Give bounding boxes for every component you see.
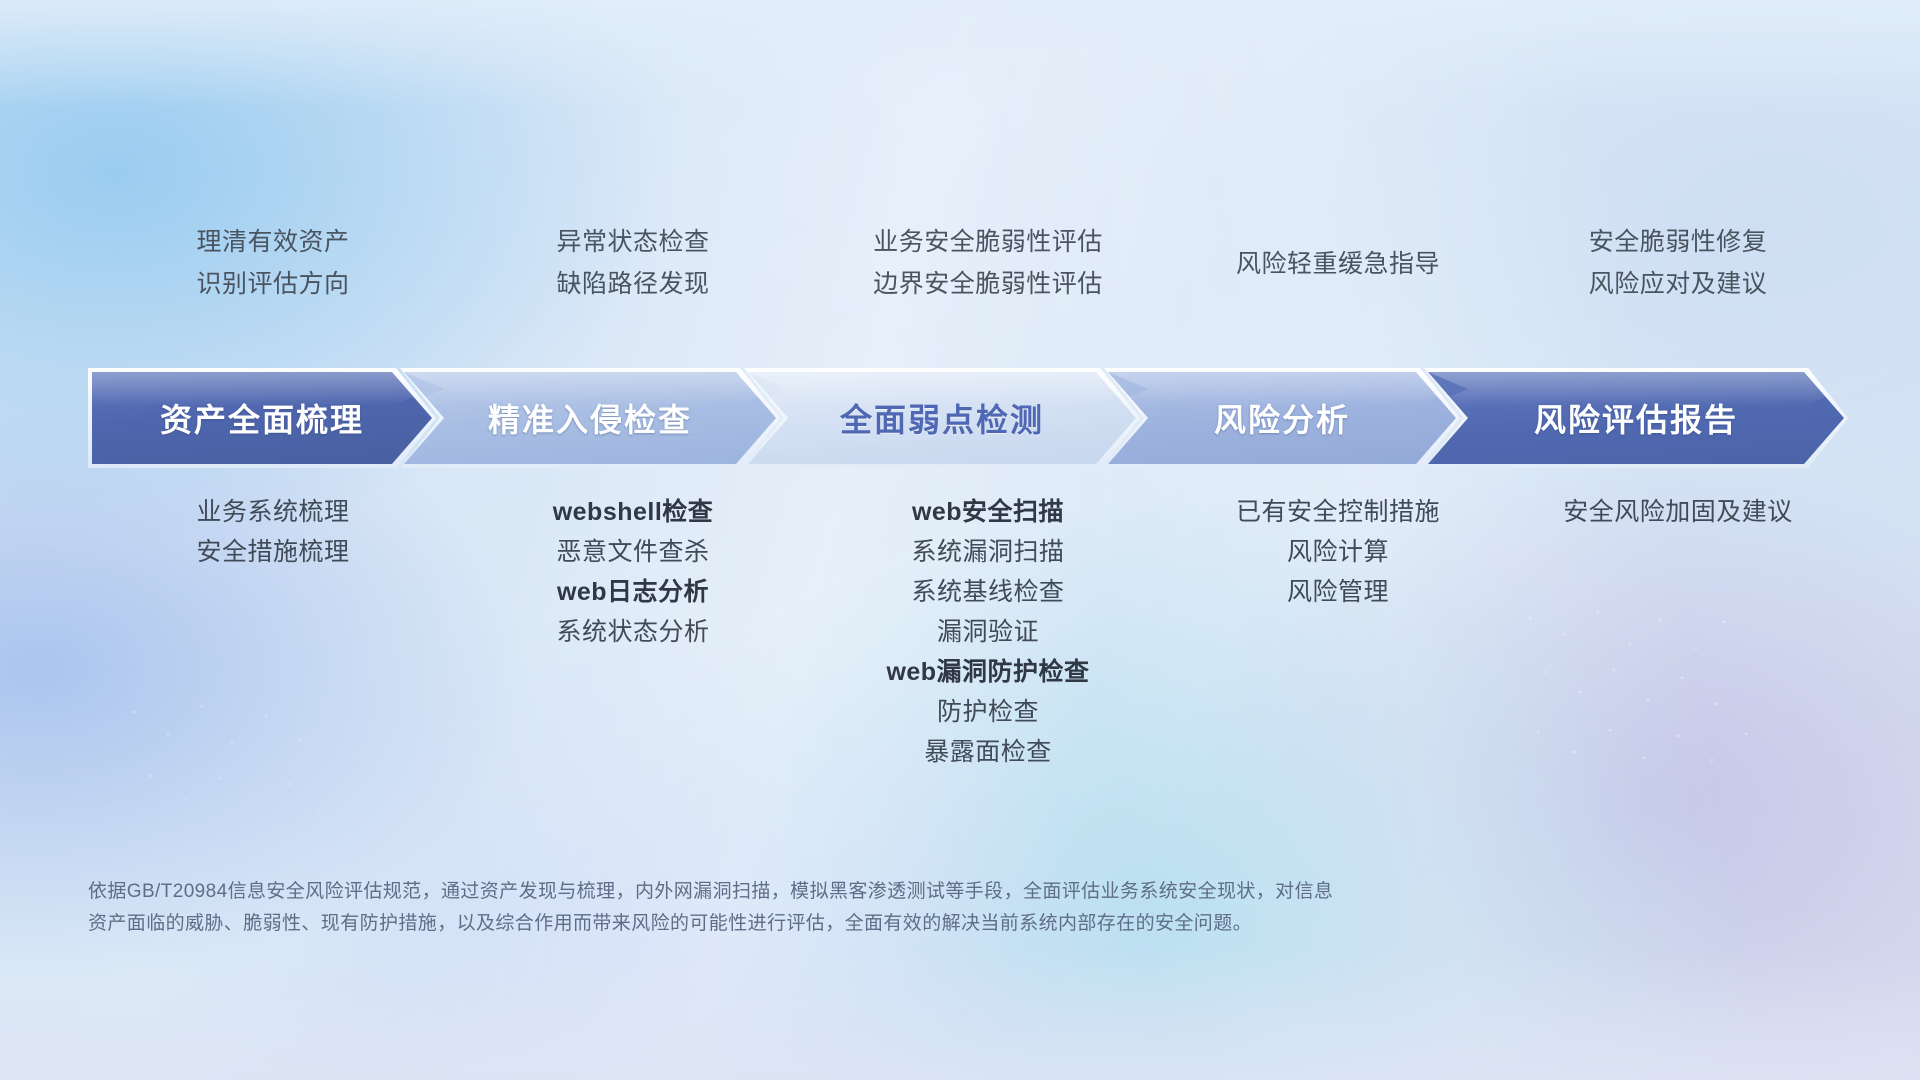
chevron-weakness-detection[interactable]: 全面弱点检测 (744, 368, 1140, 468)
top-item: 理清有效资产 (196, 228, 349, 256)
bottom-item: 业务系统梳理 (196, 498, 349, 526)
chevron-label: 资产全面梳理 (160, 395, 364, 441)
top-item: 风险应对及建议 (1589, 270, 1768, 298)
top-item: 业务安全脆弱性评估 (873, 228, 1103, 256)
bottom-item: 风险管理 (1287, 578, 1389, 606)
top-item: 异常状态检查 (556, 228, 709, 256)
stage-bottom-labels-row: 业务系统梳理 安全措施梳理 webshell检查 恶意文件查杀 web日志分析 … (88, 498, 1848, 766)
bottom-item: 恶意文件查杀 (556, 538, 709, 566)
top-item: 风险轻重缓急指导 (1236, 250, 1440, 278)
process-diagram: 理清有效资产 识别评估方向 异常状态检查 缺陷路径发现 业务安全脆弱性评估 边界… (0, 0, 1920, 1080)
top-item: 缺陷路径发现 (556, 270, 709, 298)
stage-top-labels-asset-inventory: 理清有效资产 识别评估方向 (88, 228, 458, 298)
stage-bottom-labels-weakness-detection: web安全扫描 系统漏洞扫描 系统基线检查 漏洞验证 web漏洞防护检查 防护检… (808, 498, 1168, 766)
footer-line-2: 资产面临的威胁、脆弱性、现有防护措施，以及综合作用而带来风险的可能性进行评估，全… (88, 908, 1648, 940)
stage-bottom-labels-intrusion-check: webshell检查 恶意文件查杀 web日志分析 系统状态分析 (458, 498, 808, 646)
top-item: 边界安全脆弱性评估 (873, 270, 1103, 298)
bottom-item: 安全措施梳理 (196, 538, 349, 566)
chevron-label: 风险评估报告 (1534, 395, 1738, 441)
top-item: 识别评估方向 (196, 270, 349, 298)
bottom-item: web漏洞防护检查 (886, 658, 1089, 686)
chevron-label: 精准入侵检查 (488, 395, 692, 441)
bottom-item: webshell检查 (553, 498, 714, 526)
stage-top-labels-risk-analysis: 风险轻重缓急指导 (1168, 228, 1508, 298)
chevron-risk-analysis[interactable]: 风险分析 (1104, 368, 1460, 468)
stage-top-labels-assessment-report: 安全脆弱性修复 风险应对及建议 (1508, 228, 1848, 298)
chevron-asset-inventory[interactable]: 资产全面梳理 (88, 368, 436, 468)
bottom-item: 漏洞验证 (937, 618, 1039, 646)
chevron-assessment-report[interactable]: 风险评估报告 (1424, 368, 1848, 468)
bottom-item: 防护检查 (937, 698, 1039, 726)
chevron-intrusion-check[interactable]: 精准入侵检查 (400, 368, 780, 468)
bottom-item: 系统基线检查 (911, 578, 1064, 606)
chevron-label: 全面弱点检测 (840, 395, 1044, 441)
stage-bottom-labels-risk-analysis: 已有安全控制措施 风险计算 风险管理 (1168, 498, 1508, 606)
bottom-item: 安全风险加固及建议 (1563, 498, 1793, 526)
bottom-item: web安全扫描 (912, 498, 1064, 526)
bottom-item: 暴露面检查 (924, 738, 1052, 766)
stage-chevron-ribbon: 资产全面梳理 精准入侵检查 全面弱点检测 (88, 368, 1848, 468)
bottom-item: 已有安全控制措施 (1236, 498, 1440, 526)
bottom-item: 风险计算 (1287, 538, 1389, 566)
stage-bottom-labels-asset-inventory: 业务系统梳理 安全措施梳理 (88, 498, 458, 566)
bottom-item: 系统状态分析 (556, 618, 709, 646)
stage-bottom-labels-assessment-report: 安全风险加固及建议 (1508, 498, 1848, 526)
slide-canvas: 理清有效资产 识别评估方向 异常状态检查 缺陷路径发现 业务安全脆弱性评估 边界… (0, 0, 1920, 1080)
stage-top-labels-row: 理清有效资产 识别评估方向 异常状态检查 缺陷路径发现 业务安全脆弱性评估 边界… (88, 228, 1848, 298)
stage-top-labels-intrusion-check: 异常状态检查 缺陷路径发现 (458, 228, 808, 298)
bottom-item: 系统漏洞扫描 (911, 538, 1064, 566)
top-item: 安全脆弱性修复 (1589, 228, 1768, 256)
footer-line-1: 依据GB/T20984信息安全风险评估规范，通过资产发现与梳理，内外网漏洞扫描，… (88, 876, 1648, 908)
chevron-label: 风险分析 (1214, 395, 1350, 441)
footer-description: 依据GB/T20984信息安全风险评估规范，通过资产发现与梳理，内外网漏洞扫描，… (88, 876, 1648, 940)
bottom-item: web日志分析 (557, 578, 709, 606)
stage-top-labels-weakness-detection: 业务安全脆弱性评估 边界安全脆弱性评估 (808, 228, 1168, 298)
